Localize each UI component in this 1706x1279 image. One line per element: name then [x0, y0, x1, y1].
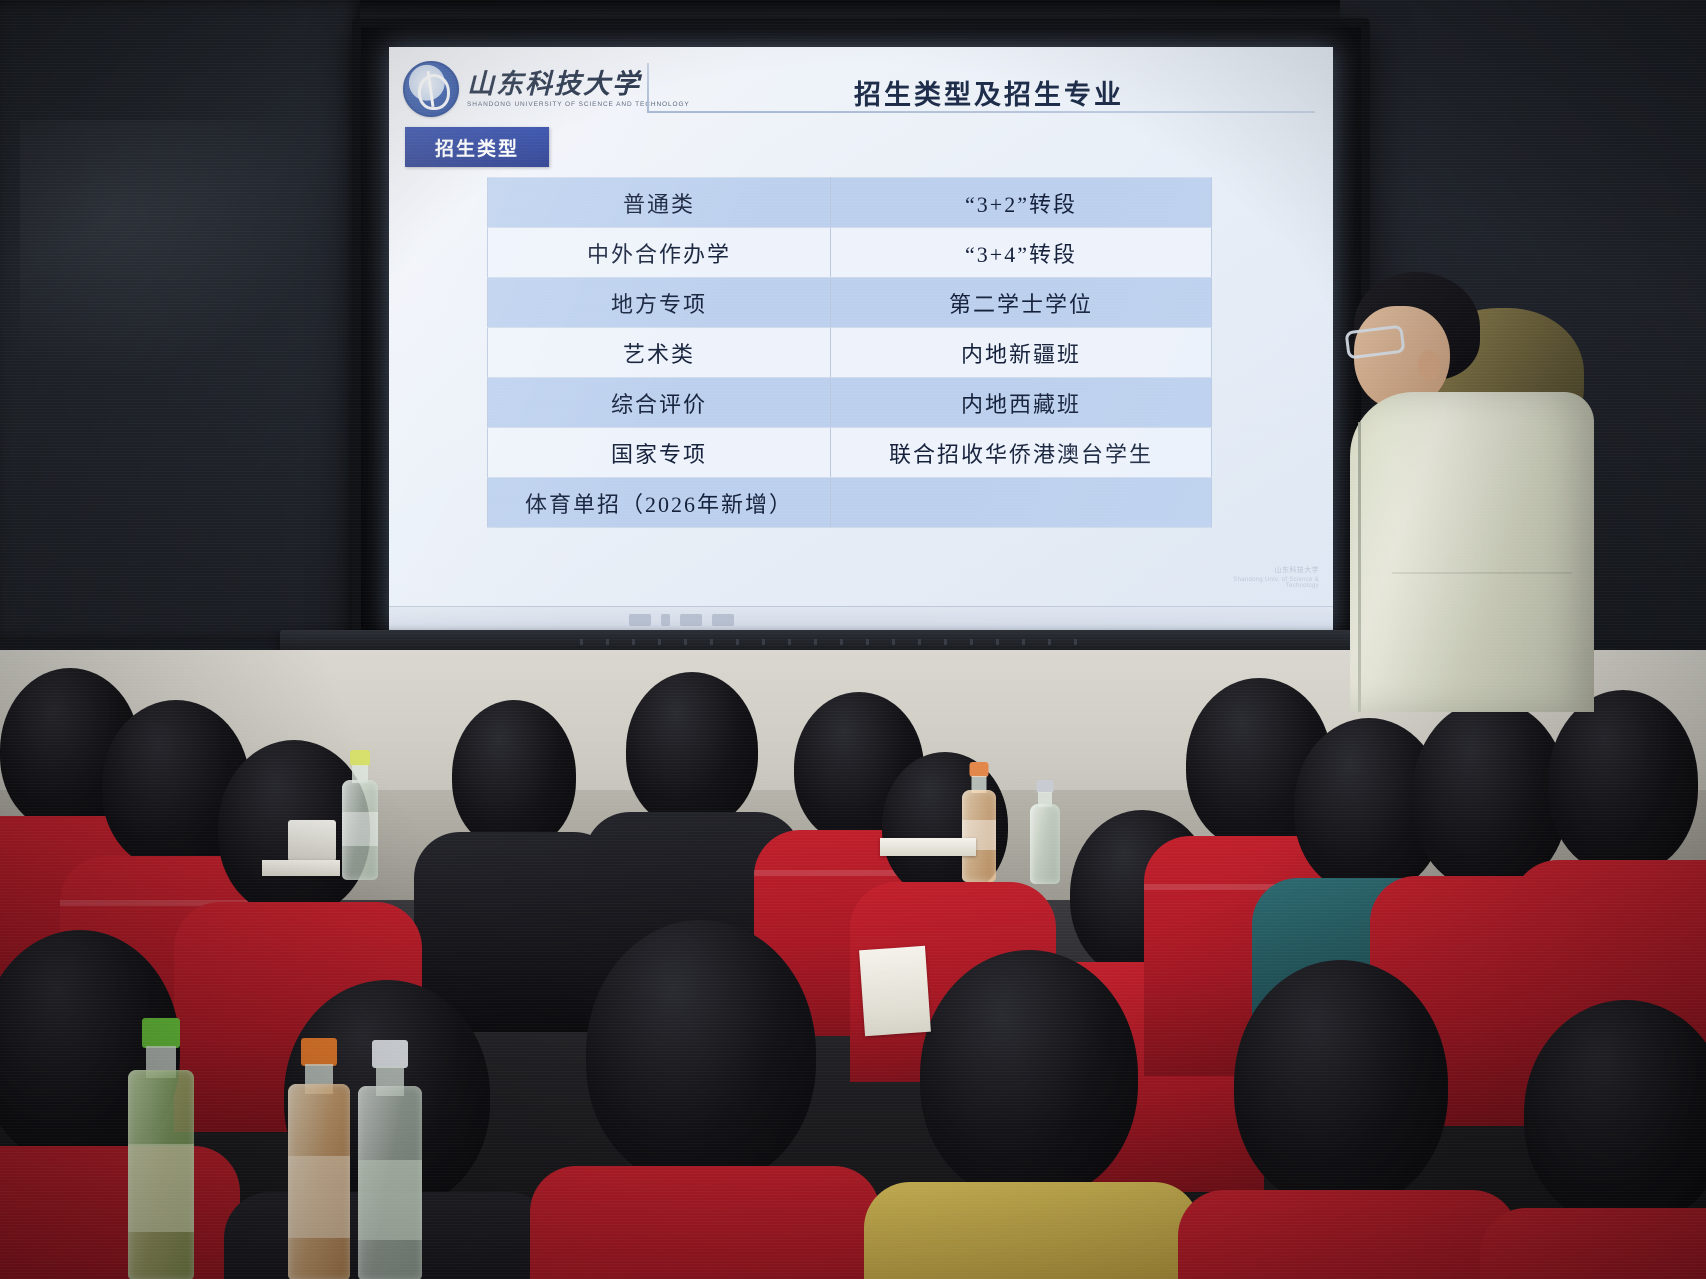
university-name-cn: 山东科技大学 — [467, 70, 690, 98]
table-row: 综合评价 内地西藏班 — [488, 378, 1212, 428]
paper-sheet — [262, 860, 340, 876]
cell-type-left: 普通类 — [488, 178, 831, 228]
student — [540, 920, 860, 1279]
slide-watermark: 山东科技大学 Shandong Univ. of Science & Techn… — [1227, 565, 1319, 589]
table-row: 中外合作办学 “3+4”转段 — [488, 228, 1212, 278]
presenter — [1332, 272, 1592, 702]
student-head — [920, 950, 1138, 1200]
blackboard-left — [0, 0, 360, 640]
bottle-label — [342, 812, 378, 846]
stacked-cups — [288, 820, 336, 864]
presenter-jacket — [1350, 392, 1594, 712]
water-bottle — [962, 762, 996, 882]
water-bottle — [288, 1038, 350, 1279]
paper-sheet — [880, 838, 976, 856]
slide-title: 招生类型及招生专业 — [689, 73, 1289, 112]
presenter-jacket-seam — [1392, 572, 1572, 574]
cell-type-right: 联合招收华侨港澳台学生 — [831, 428, 1212, 478]
university-name-en: SHANDONG UNIVERSITY OF SCIENCE AND TECHN… — [467, 101, 690, 108]
cell-type-left: 国家专项 — [488, 428, 831, 478]
presentation-slide: 山东科技大学 SHANDONG UNIVERSITY OF SCIENCE AN… — [389, 47, 1333, 633]
university-crest-icon — [403, 61, 459, 117]
bottle-label — [288, 1156, 350, 1238]
cell-type-right — [831, 478, 1212, 528]
student-head — [586, 920, 816, 1186]
cell-type-right: “3+2”转段 — [831, 178, 1212, 228]
student — [1490, 1000, 1706, 1279]
bottle-cap — [372, 1040, 408, 1068]
student-head — [626, 672, 758, 828]
table-body: 普通类 “3+2”转段 中外合作办学 “3+4”转段 地方专项 第二学士学位 — [488, 178, 1212, 528]
toolbar-chip-icon[interactable] — [712, 614, 734, 626]
blackboard-glare — [20, 120, 320, 380]
cell-type-left: 艺术类 — [488, 328, 831, 378]
display-screen[interactable]: 山东科技大学 SHANDONG UNIVERSITY OF SCIENCE AN… — [389, 47, 1333, 633]
table-row: 国家专项 联合招收华侨港澳台学生 — [488, 428, 1212, 478]
bottle-cap — [301, 1038, 337, 1066]
water-bottle — [1030, 780, 1060, 884]
screenshot-root: 山东科技大学 SHANDONG UNIVERSITY OF SCIENCE AN… — [0, 0, 1706, 1279]
student-jacket — [530, 1166, 880, 1279]
cell-type-right: “3+4”转段 — [831, 228, 1212, 278]
section-tab: 招生类型 — [405, 127, 549, 167]
toolbar-chip-icon[interactable] — [680, 614, 702, 626]
bottle-label — [128, 1144, 194, 1232]
student-head — [452, 700, 576, 850]
cell-type-right: 内地新疆班 — [831, 328, 1212, 378]
wall-display[interactable]: 山东科技大学 SHANDONG UNIVERSITY OF SCIENCE AN… — [352, 18, 1370, 662]
toolbar-chip-icon[interactable] — [629, 614, 651, 626]
student-jacket — [0, 1146, 240, 1279]
student-jacket — [1480, 1208, 1706, 1279]
presenter-jacket-zipper — [1358, 422, 1361, 712]
admission-types-table: 普通类 “3+2”转段 中外合作办学 “3+4”转段 地方专项 第二学士学位 — [487, 177, 1212, 528]
student — [1196, 960, 1496, 1279]
university-wordmark: 山东科技大学 SHANDONG UNIVERSITY OF SCIENCE AN… — [467, 70, 690, 108]
student-head — [1234, 960, 1448, 1208]
student-jacket — [1178, 1190, 1518, 1279]
student-jacket — [864, 1182, 1200, 1279]
cell-type-right: 内地西藏班 — [831, 378, 1212, 428]
bottle-cap — [970, 762, 989, 777]
slide-header: 山东科技大学 SHANDONG UNIVERSITY OF SCIENCE AN… — [389, 55, 1333, 137]
paper-sheet — [859, 946, 931, 1036]
bottle-cap — [142, 1018, 180, 1048]
section-tab-label: 招生类型 — [435, 134, 519, 161]
table-row: 艺术类 内地新疆班 — [488, 328, 1212, 378]
cell-type-left: 地方专项 — [488, 278, 831, 328]
student-head — [1548, 690, 1698, 874]
toolbar-chip-icon[interactable] — [661, 614, 670, 626]
table-row: 地方专项 第二学士学位 — [488, 278, 1212, 328]
water-bottle — [358, 1040, 422, 1279]
header-divider-vertical — [647, 63, 649, 113]
bottle-cap — [350, 750, 370, 766]
table-row: 体育单招（2026年新增） — [488, 478, 1212, 528]
bottle-body — [1030, 804, 1060, 884]
tray-vents — [580, 639, 1100, 645]
watermark-line-1: 山东科技大学 — [1227, 565, 1319, 575]
cell-type-left: 中外合作办学 — [488, 228, 831, 278]
bottle-label — [358, 1160, 422, 1240]
table-row: 普通类 “3+2”转段 — [488, 178, 1212, 228]
cell-type-left: 综合评价 — [488, 378, 831, 428]
cell-type-left: 体育单招（2026年新增） — [488, 478, 831, 528]
water-bottle — [128, 1018, 194, 1279]
student-head — [1524, 1000, 1706, 1226]
water-bottle — [342, 750, 378, 880]
presentation-toolbar[interactable] — [389, 606, 1333, 633]
presenter-ear — [1418, 350, 1440, 380]
watermark-line-2: Shandong Univ. of Science & Technology — [1227, 577, 1319, 589]
cell-type-right: 第二学士学位 — [831, 278, 1212, 328]
